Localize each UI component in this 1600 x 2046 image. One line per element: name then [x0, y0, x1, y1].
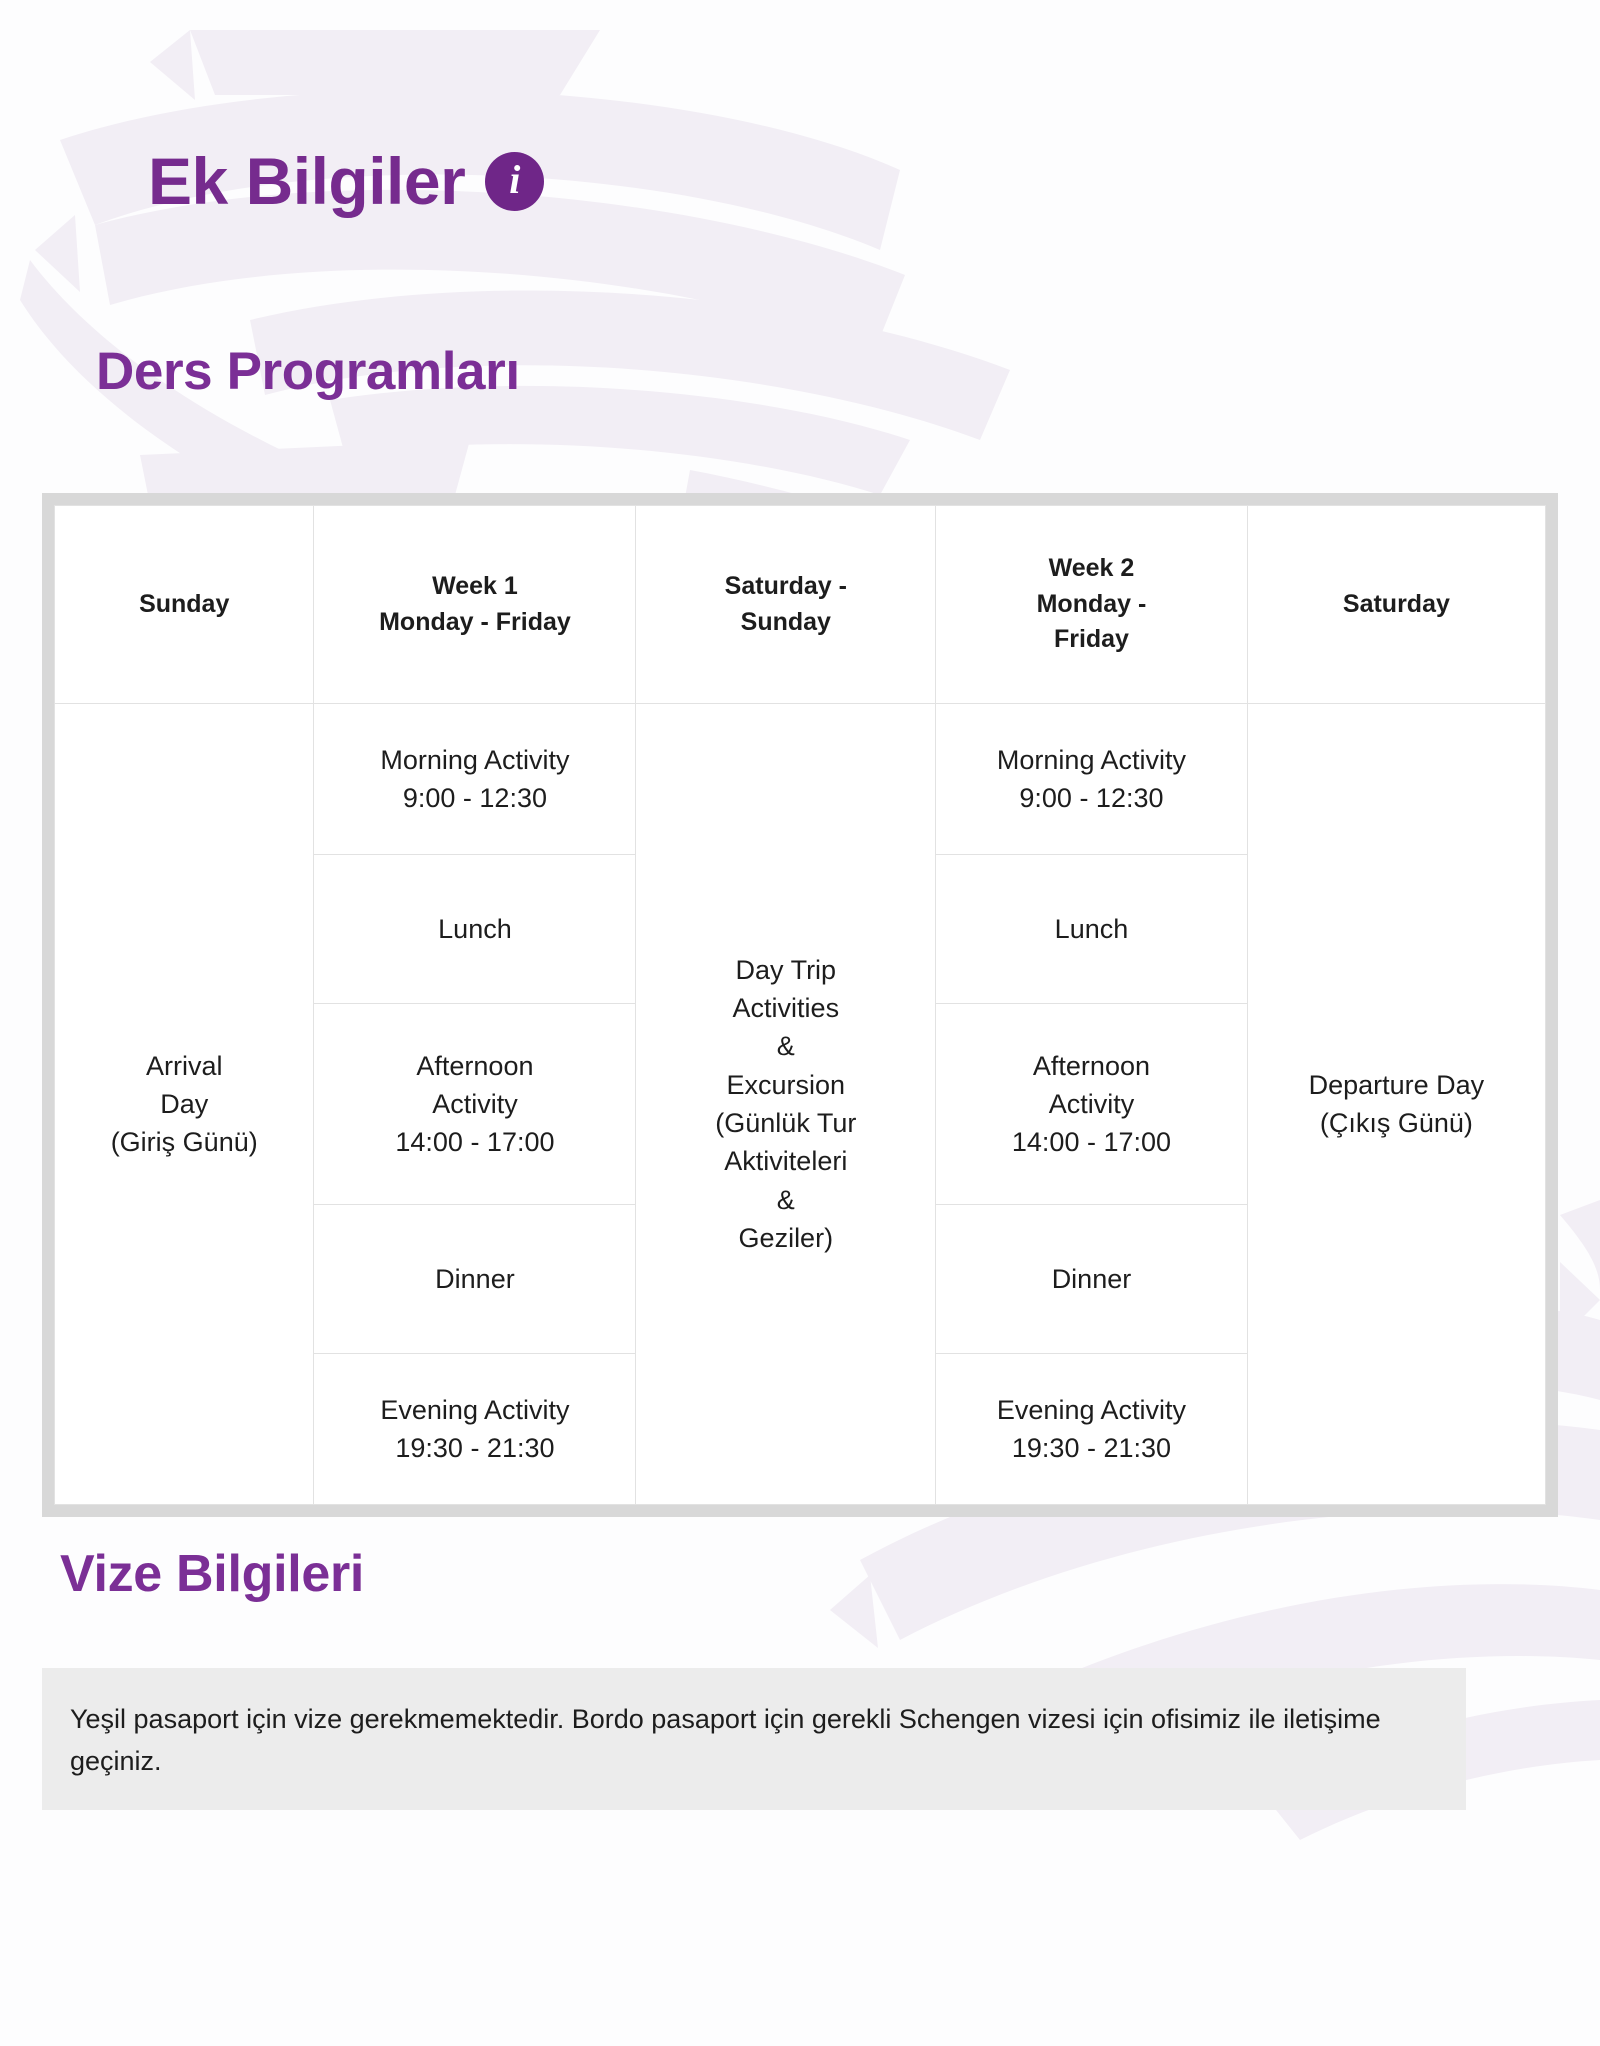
cell-week1-dinner: Dinner — [314, 1205, 636, 1354]
page-root: Ek Bilgiler i Ders Programları Sunday We… — [0, 0, 1600, 2046]
cell-arrival-day: ArrivalDay(Giriş Günü) — [55, 704, 314, 1505]
cell-week2-evening: Evening Activity19:30 - 21:30 — [936, 1354, 1248, 1505]
table-header-row: Sunday Week 1Monday - Friday Saturday -S… — [55, 506, 1546, 704]
cell-week2-morning: Morning Activity9:00 - 12:30 — [936, 704, 1248, 855]
schedule-table-frame: Sunday Week 1Monday - Friday Saturday -S… — [42, 493, 1558, 1517]
schedule-table: Sunday Week 1Monday - Friday Saturday -S… — [54, 505, 1546, 1505]
column-header-sunday: Sunday — [55, 506, 314, 704]
cell-week1-lunch: Lunch — [314, 855, 636, 1004]
info-icon-glyph: i — [509, 160, 520, 200]
cell-departure-day: Departure Day(Çıkış Günü) — [1247, 704, 1545, 1505]
column-header-week1: Week 1Monday - Friday — [314, 506, 636, 704]
section-title-schedule: Ders Programları — [96, 345, 520, 398]
page-header: Ek Bilgiler i — [148, 148, 544, 214]
info-icon: i — [485, 152, 544, 211]
cell-week2-lunch: Lunch — [936, 855, 1248, 1004]
cell-week1-afternoon: AfternoonActivity14:00 - 17:00 — [314, 1004, 636, 1205]
column-header-saturday-sunday: Saturday -Sunday — [636, 506, 936, 704]
table-row: ArrivalDay(Giriş Günü) Morning Activity9… — [55, 704, 1546, 855]
schedule-table-head: Sunday Week 1Monday - Friday Saturday -S… — [55, 506, 1546, 704]
cell-week1-morning: Morning Activity9:00 - 12:30 — [314, 704, 636, 855]
cell-day-trip: Day TripActivities&Excursion(Günlük TurA… — [636, 704, 936, 1505]
cell-week2-dinner: Dinner — [936, 1205, 1248, 1354]
visa-info-box: Yeşil pasaport için vize gerekmemektedir… — [42, 1668, 1466, 1810]
section-title-visa: Vize Bilgileri — [60, 1548, 364, 1600]
schedule-table-body: ArrivalDay(Giriş Günü) Morning Activity9… — [55, 704, 1546, 1505]
page-title: Ek Bilgiler — [148, 148, 465, 214]
column-header-week2: Week 2Monday -Friday — [936, 506, 1248, 704]
cell-week2-afternoon: AfternoonActivity14:00 - 17:00 — [936, 1004, 1248, 1205]
column-header-saturday: Saturday — [1247, 506, 1545, 704]
cell-week1-evening: Evening Activity19:30 - 21:30 — [314, 1354, 636, 1505]
visa-info-text: Yeşil pasaport için vize gerekmemektedir… — [70, 1698, 1410, 1782]
